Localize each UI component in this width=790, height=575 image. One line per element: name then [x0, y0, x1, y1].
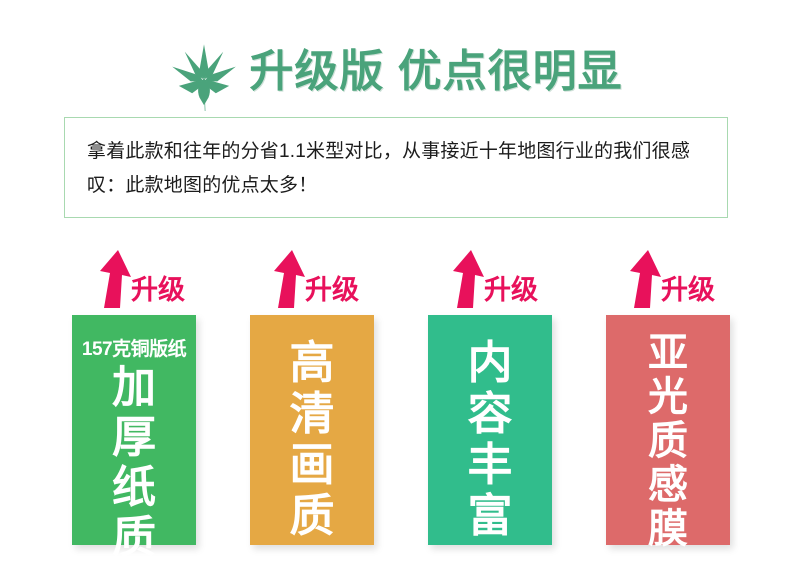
maple-leaf-icon	[167, 37, 241, 111]
feature-card-subtitle: 157克铜版纸	[72, 334, 196, 361]
up-arrow-icon	[272, 250, 306, 308]
up-arrow-icon	[98, 250, 132, 308]
page-header: 升级版 优点很明显	[0, 30, 790, 114]
intro-callout-box: 拿着此款和往年的分省1.1米型对比，从事接近十年地图行业的我们很感叹：此款地图的…	[64, 117, 728, 218]
feature-card-title: 高 清 画 质	[250, 337, 374, 541]
upgrade-arrow-label: 升级	[131, 277, 185, 304]
feature-card-title: 内 容 丰 富	[428, 337, 552, 541]
upgrade-arrow-group-1: 升级	[98, 246, 185, 308]
upgrade-arrow-label: 升级	[661, 277, 715, 304]
feature-card-matte-film: 亚 光 质 感 膜	[606, 315, 730, 545]
feature-card-title: 亚 光 质 感 膜	[606, 331, 730, 551]
intro-text: 拿着此款和往年的分省1.1米型对比，从事接近十年地图行业的我们很感叹：此款地图的…	[87, 135, 705, 203]
upgrade-arrow-label: 升级	[484, 277, 538, 304]
up-arrow-icon	[451, 250, 485, 308]
feature-card-rich-content: 内 容 丰 富	[428, 315, 552, 545]
upgrade-arrow-group-2: 升级	[272, 246, 359, 308]
feature-card-thick-paper: 157克铜版纸 加 厚 纸 质	[72, 315, 196, 545]
page-title: 升级版 优点很明显	[249, 50, 622, 94]
upgrade-arrow-group-4: 升级	[628, 246, 715, 308]
up-arrow-icon	[628, 250, 662, 308]
upgrade-arrow-group-3: 升级	[451, 246, 538, 308]
feature-card-hd-quality: 高 清 画 质	[250, 315, 374, 545]
upgrade-arrow-label: 升级	[305, 277, 359, 304]
feature-card-title: 加 厚 纸 质	[72, 363, 196, 563]
